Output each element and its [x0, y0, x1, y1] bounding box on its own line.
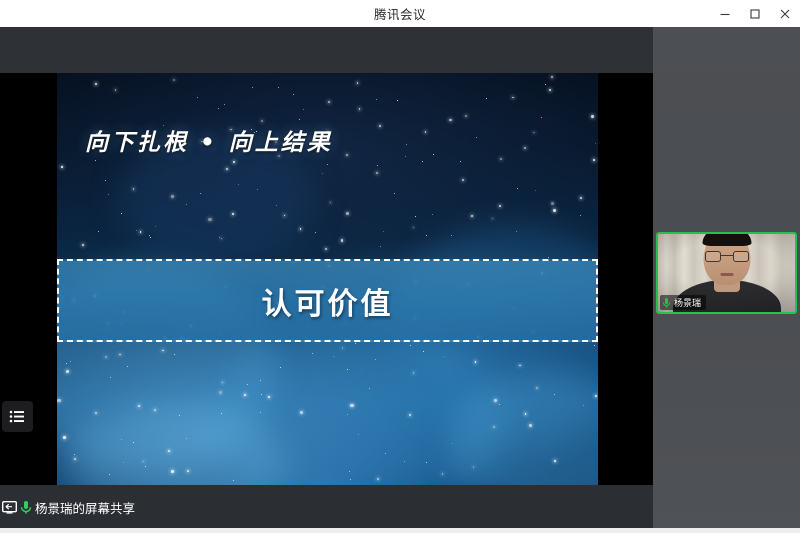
star [162, 350, 164, 352]
star [299, 119, 300, 120]
star [413, 227, 415, 229]
star [232, 213, 234, 215]
star [404, 461, 405, 462]
star [138, 405, 140, 407]
star [247, 384, 248, 385]
star [82, 244, 84, 246]
participant-video-tile[interactable]: 杨景瑞 [656, 232, 797, 314]
star [433, 154, 434, 155]
star [595, 143, 596, 144]
star [133, 442, 134, 443]
participant-panel: 杨景瑞 [653, 27, 800, 528]
star [95, 83, 97, 85]
close-button[interactable] [770, 0, 800, 27]
star [580, 197, 582, 199]
star [261, 394, 262, 395]
list-icon [9, 409, 26, 424]
star [519, 365, 521, 367]
star [179, 415, 180, 416]
star [155, 226, 156, 227]
star [358, 434, 359, 435]
screen-share-icon [2, 501, 17, 514]
window-bottom-strip [0, 528, 800, 533]
star [300, 228, 302, 230]
star [492, 218, 494, 220]
star [260, 412, 261, 413]
star [268, 396, 270, 398]
star [426, 235, 427, 236]
star [350, 479, 351, 480]
star [432, 214, 433, 215]
star [512, 97, 514, 99]
star [451, 235, 452, 236]
star [303, 109, 304, 110]
star [127, 366, 128, 367]
star [312, 353, 313, 354]
star [186, 438, 187, 439]
star [376, 99, 377, 100]
star [315, 232, 316, 233]
star [493, 426, 495, 428]
star [499, 205, 501, 207]
star [174, 354, 175, 355]
screen-share-status[interactable]: 杨景瑞的屏幕共享 [0, 498, 135, 517]
star [224, 104, 225, 105]
star [517, 188, 518, 189]
star [580, 215, 581, 216]
star [462, 179, 464, 181]
nebula-wisp [447, 373, 598, 485]
star [379, 125, 381, 127]
star [233, 161, 235, 163]
star [208, 218, 211, 221]
star [369, 388, 370, 389]
star [551, 76, 553, 78]
minimize-button[interactable] [710, 0, 740, 27]
star [119, 354, 121, 356]
star [186, 204, 187, 205]
star [413, 372, 415, 374]
star [423, 351, 424, 352]
star [442, 473, 444, 475]
star [66, 363, 67, 364]
maximize-icon [749, 8, 761, 20]
star [405, 156, 406, 157]
star [133, 188, 135, 190]
window-controls [710, 0, 800, 27]
star [425, 131, 427, 133]
star [536, 387, 538, 389]
star [377, 165, 378, 166]
star [63, 436, 66, 439]
star [143, 461, 145, 463]
star [221, 413, 222, 414]
star [200, 193, 201, 194]
star [383, 231, 384, 232]
star [394, 193, 395, 194]
star [108, 194, 109, 195]
slide-banner-text: 认可价值 [262, 279, 394, 323]
star [471, 215, 473, 217]
star [486, 98, 487, 99]
star [98, 231, 99, 232]
star [443, 356, 444, 357]
star [325, 248, 327, 250]
star [61, 166, 63, 168]
star [500, 158, 502, 160]
microphone-icon [662, 297, 671, 309]
tencent-meeting-window: 腾讯会议 [0, 0, 800, 533]
participant-name-badge: 杨景瑞 [660, 295, 706, 310]
star [280, 367, 281, 368]
star [149, 235, 150, 236]
star [173, 79, 175, 81]
star [150, 237, 151, 238]
star [140, 231, 142, 233]
star [238, 184, 239, 185]
star [333, 356, 334, 357]
star [244, 394, 246, 396]
star [197, 97, 198, 98]
star [284, 215, 286, 217]
star [397, 100, 398, 101]
minimize-icon [719, 8, 731, 20]
slide-title: 向下扎根 • 向上结果 [85, 123, 333, 157]
star [293, 94, 294, 95]
star [449, 119, 451, 121]
star [422, 161, 423, 162]
star [554, 394, 555, 395]
maximize-button[interactable] [740, 0, 770, 27]
star [171, 470, 174, 473]
star [233, 480, 234, 481]
star [475, 361, 477, 363]
star [594, 345, 595, 346]
star [328, 101, 330, 103]
presentation-slide: 向下扎根 • 向上结果 认可价值 [57, 73, 598, 485]
star [327, 164, 328, 165]
shared-screen-stage[interactable]: 向下扎根 • 向上结果 认可价值 [0, 27, 653, 485]
star [252, 87, 253, 88]
star [355, 343, 356, 344]
title-bar: 腾讯会议 [0, 0, 800, 28]
star [535, 190, 536, 191]
star [525, 413, 527, 415]
star [359, 108, 361, 110]
star [121, 439, 122, 440]
star [375, 359, 376, 360]
nebula-wisp [207, 323, 507, 485]
star [109, 474, 110, 475]
star [595, 395, 597, 397]
star [415, 216, 416, 217]
star [377, 478, 379, 480]
star [95, 160, 96, 161]
star [347, 369, 348, 370]
star [115, 89, 117, 91]
star [346, 154, 348, 156]
close-icon [779, 8, 791, 20]
star [221, 238, 223, 240]
star [554, 460, 556, 462]
star [218, 108, 219, 109]
star [121, 213, 122, 214]
star [260, 380, 261, 381]
star [406, 144, 407, 145]
star [171, 195, 174, 198]
star [409, 414, 411, 416]
star [347, 414, 348, 415]
microphone-icon [20, 500, 32, 515]
star [342, 347, 344, 349]
star [57, 399, 60, 402]
star [330, 202, 332, 204]
star [278, 87, 279, 88]
star [154, 409, 156, 411]
star [145, 466, 146, 467]
star [426, 462, 427, 463]
star [410, 345, 411, 346]
star [74, 458, 76, 460]
star [222, 382, 224, 384]
star [499, 404, 500, 405]
star [591, 115, 594, 118]
star [219, 391, 222, 394]
star [593, 159, 595, 161]
star [452, 443, 453, 444]
star [551, 202, 554, 205]
star [350, 404, 353, 407]
star [341, 239, 343, 241]
star [105, 356, 107, 358]
star [529, 424, 532, 427]
star [219, 237, 220, 238]
star [553, 209, 556, 212]
star [187, 470, 189, 472]
star [460, 161, 461, 162]
star [465, 115, 467, 117]
annotation-list-button[interactable] [2, 401, 33, 432]
screen-share-label: 杨景瑞的屏幕共享 [35, 498, 135, 517]
star [136, 230, 137, 231]
star [226, 168, 228, 170]
star [168, 450, 170, 452]
star [346, 212, 349, 215]
star [549, 89, 551, 91]
star [494, 399, 497, 402]
star [548, 257, 549, 258]
bottom-status-bar: 杨景瑞的屏幕共享 [0, 485, 653, 528]
slide-banner: 认可价值 [57, 259, 598, 342]
star [533, 132, 535, 134]
star [541, 117, 542, 118]
star [74, 454, 75, 455]
star [476, 137, 477, 138]
star [524, 147, 526, 149]
star [261, 120, 263, 122]
participant-name: 杨景瑞 [674, 296, 701, 309]
star [380, 246, 381, 247]
nebula-wisp [67, 403, 287, 485]
star [322, 173, 323, 174]
star [473, 466, 475, 468]
star [66, 370, 69, 373]
star [357, 82, 359, 84]
star [385, 453, 386, 454]
star [545, 84, 546, 85]
star [70, 361, 71, 362]
star [105, 180, 106, 181]
window-title: 腾讯会议 [374, 4, 426, 23]
stage-top-bar [0, 27, 653, 73]
star [123, 462, 124, 463]
star [257, 189, 258, 190]
star [376, 172, 378, 174]
star [300, 411, 303, 414]
star [95, 412, 97, 414]
star [516, 231, 517, 232]
star [583, 405, 584, 406]
star [110, 377, 111, 378]
star [276, 205, 277, 206]
star [349, 471, 350, 472]
